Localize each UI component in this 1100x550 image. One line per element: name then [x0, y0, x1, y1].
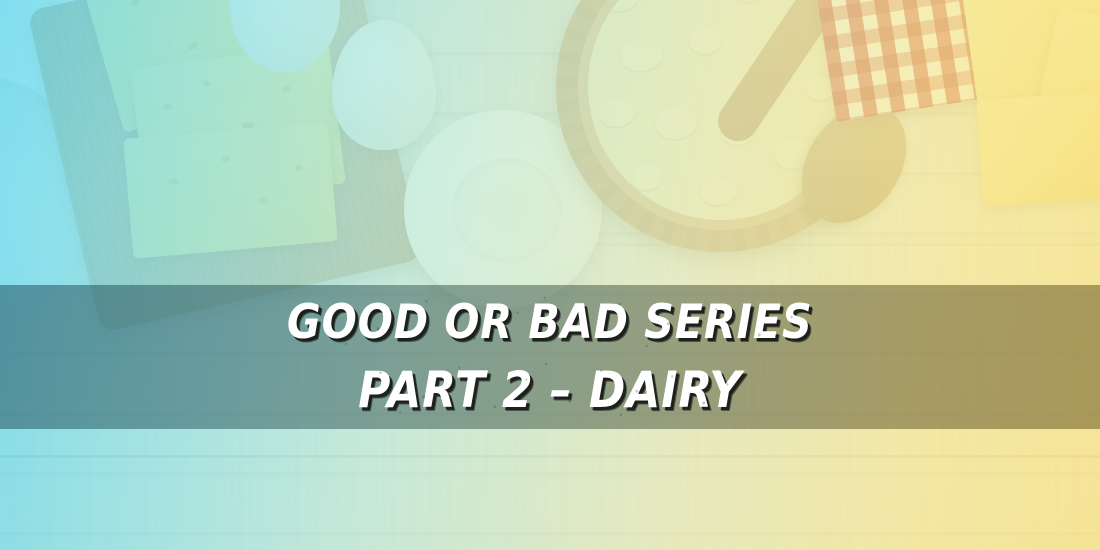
headline-line-2: PART 2 – DAIRY	[358, 365, 742, 415]
duotone-gradient-overlay	[0, 0, 1100, 550]
dairy-series-banner: GOOD OR BAD SERIES PART 2 – DAIRY	[0, 0, 1100, 550]
title-band: GOOD OR BAD SERIES PART 2 – DAIRY	[0, 285, 1100, 429]
headline-line-1: GOOD OR BAD SERIES	[287, 299, 813, 346]
